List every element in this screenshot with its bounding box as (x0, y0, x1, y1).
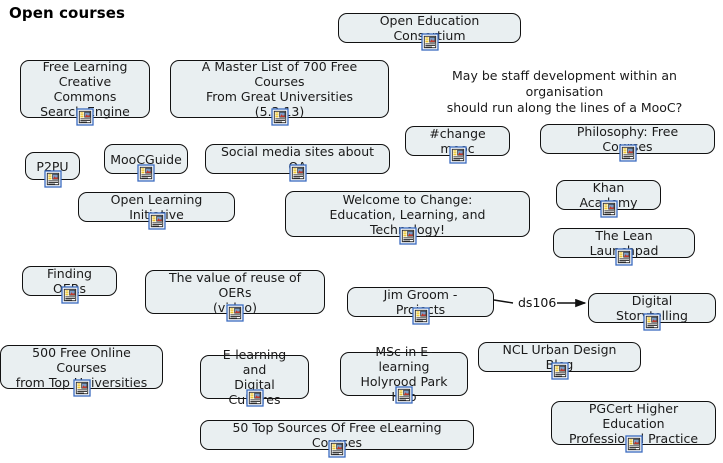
edge-line-jim-groom-to-digital-storytelling (494, 300, 513, 303)
document-image-icon[interactable] (421, 33, 439, 51)
node-50-top-sources-elearning[interactable]: 50 Top Sources Of Free eLearning Courses (200, 420, 474, 450)
document-image-icon[interactable] (328, 440, 346, 458)
document-image-icon[interactable] (399, 227, 417, 245)
annotation-mooc-question: May be staff development within an organ… (412, 68, 717, 116)
document-image-icon[interactable] (551, 362, 569, 380)
node-ncl-urban-design-blog[interactable]: NCL Urban Design Blog (478, 342, 641, 372)
node-jim-groom-projects[interactable]: Jim Groom - Projects (347, 287, 494, 317)
node-msc-e-learning-holyrood[interactable]: MSc in E-learning Holyrood Park Hub (340, 352, 468, 396)
node-lean-launchpad[interactable]: The Lean Launchpad (553, 228, 695, 258)
node-change-mooc[interactable]: #change mooc (405, 126, 510, 156)
document-image-icon[interactable] (449, 146, 467, 164)
document-image-icon[interactable] (625, 435, 643, 453)
document-image-icon[interactable] (615, 248, 633, 266)
document-image-icon[interactable] (643, 313, 661, 331)
document-image-icon[interactable] (226, 304, 244, 322)
node-p2pu[interactable]: P2PU (25, 152, 80, 180)
document-image-icon[interactable] (246, 389, 264, 407)
document-image-icon[interactable] (148, 212, 166, 230)
document-image-icon[interactable] (600, 200, 618, 218)
node-free-learning-cc-search[interactable]: Free Learning Creative Commons Search En… (20, 60, 150, 118)
document-image-icon[interactable] (412, 307, 430, 325)
concept-map-canvas: Open courses ds106 May be staff developm… (0, 0, 723, 463)
node-master-list-700[interactable]: A Master List of 700 Free Courses From G… (170, 60, 389, 118)
document-image-icon[interactable] (619, 144, 637, 162)
node-e-learning-digital-cultures[interactable]: E-learning and Digital Cultures (200, 355, 309, 399)
page-title: Open courses (9, 4, 125, 22)
node-value-of-reuse-oers[interactable]: The value of reuse of OERs (video) (145, 270, 325, 314)
node-pgcert-higher-education[interactable]: PGCert Higher Education Professional Pra… (551, 401, 716, 445)
document-image-icon[interactable] (271, 108, 289, 126)
node-welcome-to-change[interactable]: Welcome to Change: Education, Learning, … (285, 191, 530, 237)
document-image-icon[interactable] (137, 164, 155, 182)
node-finding-oers[interactable]: Finding OERs (22, 266, 117, 296)
document-image-icon[interactable] (44, 170, 62, 188)
node-social-media-oa[interactable]: Social media sites about OA (205, 144, 390, 174)
node-500-free-online-courses[interactable]: 500 Free Online Courses from Top Univers… (0, 345, 163, 389)
node-digital-storytelling[interactable]: Digital Storytelling (588, 293, 716, 323)
node-open-education-consortium[interactable]: Open Education Consortium (338, 13, 521, 43)
node-open-learning-initiative[interactable]: Open Learning Initiative (78, 192, 235, 222)
document-image-icon[interactable] (289, 164, 307, 182)
edge-label-ds106: ds106 (517, 296, 557, 310)
document-image-icon[interactable] (76, 108, 94, 126)
node-khan-academy[interactable]: Khan Academy (556, 180, 661, 210)
document-image-icon[interactable] (73, 379, 91, 397)
node-moocguide[interactable]: MooCGuide (104, 144, 188, 174)
node-philosophy-free-courses[interactable]: Philosophy: Free Courses (540, 124, 715, 154)
document-image-icon[interactable] (395, 386, 413, 404)
document-image-icon[interactable] (61, 286, 79, 304)
